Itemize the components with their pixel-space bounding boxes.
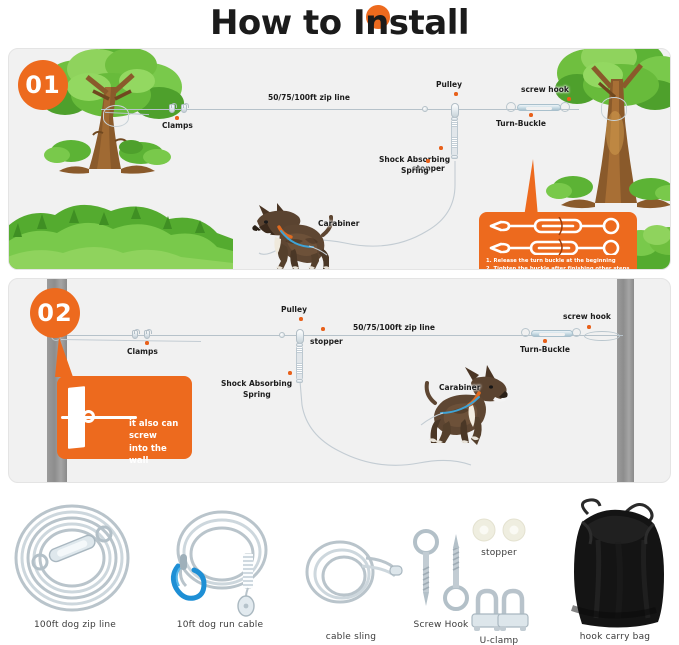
end-loop-02 xyxy=(584,331,620,341)
turnbuckle-diagram xyxy=(487,217,629,255)
callout-tail-01 xyxy=(524,159,538,217)
stopper-pointer-dot-01 xyxy=(426,159,430,163)
callout-wall-line-2: into the wall xyxy=(129,443,189,468)
callout-wall-line-1: it also can screw xyxy=(129,418,189,443)
spring-pointer-dot-01 xyxy=(439,146,443,150)
install-step-panel-01: Clamps 50/75/100ft zip line stopper Pull… xyxy=(8,48,671,270)
tree-right-illustration xyxy=(537,48,671,221)
wall-eye-hook-graphic xyxy=(82,410,95,423)
grass-bush-illustration xyxy=(8,189,233,270)
stopper-bead-01 xyxy=(422,106,428,112)
callout-wall-mount: it also can screw into the wall xyxy=(57,376,192,459)
clamp-icon-02b xyxy=(144,330,150,339)
page-header: How to Install xyxy=(0,0,679,46)
product-label-cable-sling: cable sling xyxy=(296,632,406,642)
callout-turnbuckle-instructions: 1. Release the turn buckle at the beginn… xyxy=(479,212,637,270)
callout-line-1: 1. Release the turn buckle at the beginn… xyxy=(486,257,632,265)
product-u-clamp: U-clamp xyxy=(452,584,546,645)
clamps-pointer-dot xyxy=(175,116,179,120)
spring-bottom-cap-01 xyxy=(451,155,458,159)
product-label-stopper: stopper xyxy=(452,548,546,558)
wall-post-right xyxy=(617,278,634,483)
product-run-cable: 10ft dog run cable xyxy=(160,508,280,630)
product-label-run-cable: 10ft dog run cable xyxy=(160,620,280,630)
spring-pointer-dot-02 xyxy=(288,371,292,375)
label-spring-line1-02: Shock Absorbing xyxy=(221,379,292,388)
clamp-icon-02a xyxy=(132,330,138,339)
product-label-u-clamp: U-clamp xyxy=(452,636,546,645)
product-carry-bag: hook carry bag xyxy=(552,496,678,642)
wall-screw-graphic xyxy=(61,416,137,419)
product-label-zip-line: 100ft dog zip line xyxy=(10,620,140,630)
label-carabiner-02: Carabiner xyxy=(439,383,480,392)
title-wrap: How to Install xyxy=(210,3,469,43)
label-spring-line1-01: Shock Absorbing xyxy=(379,155,450,164)
clamps-pointer-dot-02 xyxy=(145,341,149,345)
label-turnbuckle-01: Turn-Buckle xyxy=(496,119,546,128)
dog-illustration-02 xyxy=(417,365,509,447)
shock-absorbing-spring-01 xyxy=(451,121,458,155)
label-turnbuckle-02: Turn-Buckle xyxy=(520,345,570,354)
screw-hook-ring-01 xyxy=(506,102,516,112)
stopper-bead-02a xyxy=(279,332,285,338)
turnbuckle-icon-02 xyxy=(531,330,573,337)
callout-line-2: 2. Tighten the buckle after finishing ot… xyxy=(486,265,632,270)
pulley-pointer-dot-02 xyxy=(299,317,303,321)
label-zipline-01: 50/75/100ft zip line xyxy=(268,93,350,102)
tree-strap-left xyxy=(103,105,129,127)
screw-hook-ring-02b xyxy=(572,328,581,337)
pulley-icon-01 xyxy=(451,103,459,118)
pulley-icon-02 xyxy=(296,329,304,344)
callout-wall-text: it also can screw into the wall xyxy=(129,418,189,467)
product-label-carry-bag: hook carry bag xyxy=(552,632,678,642)
step-badge-02: 02 xyxy=(30,288,80,338)
callout-instruction-list: 1. Release the turn buckle at the beginn… xyxy=(486,257,632,270)
clamp-icon-b xyxy=(181,104,187,113)
label-clamps-02: Clamps xyxy=(127,347,158,356)
turnbuckle-icon-01 xyxy=(517,104,561,111)
clamp-icon-a xyxy=(169,104,175,113)
label-pulley-02: Pulley xyxy=(281,305,307,314)
u-clamp-art xyxy=(452,584,546,632)
label-clamps-01: Clamps xyxy=(162,121,193,130)
label-spring-line2-02: Spring xyxy=(243,390,271,399)
label-screwhook-01: screw hook xyxy=(521,85,569,94)
label-stopper-02: stopper xyxy=(310,337,343,346)
screwhook-pointer-dot-02 xyxy=(587,325,591,329)
screwhook-pointer-dot-01 xyxy=(567,97,571,101)
spring-bottom-cap-02 xyxy=(296,379,303,383)
pulley-pointer-dot-01 xyxy=(454,92,458,96)
shock-absorbing-spring-02 xyxy=(296,347,303,379)
label-carabiner-01: Carabiner xyxy=(318,219,359,228)
label-pulley-01: Pulley xyxy=(436,80,462,89)
page-title: How to Install xyxy=(210,3,469,43)
tree-strap-right xyxy=(601,97,627,121)
run-cable-art xyxy=(160,508,280,618)
label-zipline-02: 50/75/100ft zip line xyxy=(353,323,435,332)
product-stopper: stopper xyxy=(452,516,546,558)
carry-bag-art xyxy=(552,496,678,630)
screw-hook-ring-02a xyxy=(521,328,530,337)
label-screwhook-02: screw hook xyxy=(563,312,611,321)
label-spring-line2-01: Spring xyxy=(401,166,429,175)
step-badge-01: 01 xyxy=(18,60,68,110)
infographic-page: How to Install xyxy=(0,0,679,645)
cable-sling-art xyxy=(296,536,406,614)
product-contents-strip: 100ft dog zip line xyxy=(0,492,679,645)
product-zip-line: 100ft dog zip line xyxy=(10,500,140,630)
stopper-pointer-dot-02 xyxy=(321,327,325,331)
stopper-art xyxy=(452,516,546,544)
zip-line-coil-art xyxy=(10,500,140,618)
zip-line-slack-02 xyxy=(61,339,201,342)
product-cable-sling: cable sling xyxy=(296,536,406,642)
install-step-panel-02: Clamps Pulley stopper Shock Absorbing Sp… xyxy=(8,278,671,483)
turnbuckle-pointer-dot-01 xyxy=(529,113,533,117)
screw-hook-ring-01b xyxy=(560,102,570,112)
callout-tail-02 xyxy=(55,337,73,377)
dog-illustration-01 xyxy=(247,199,333,270)
turnbuckle-pointer-dot-02 xyxy=(543,339,547,343)
